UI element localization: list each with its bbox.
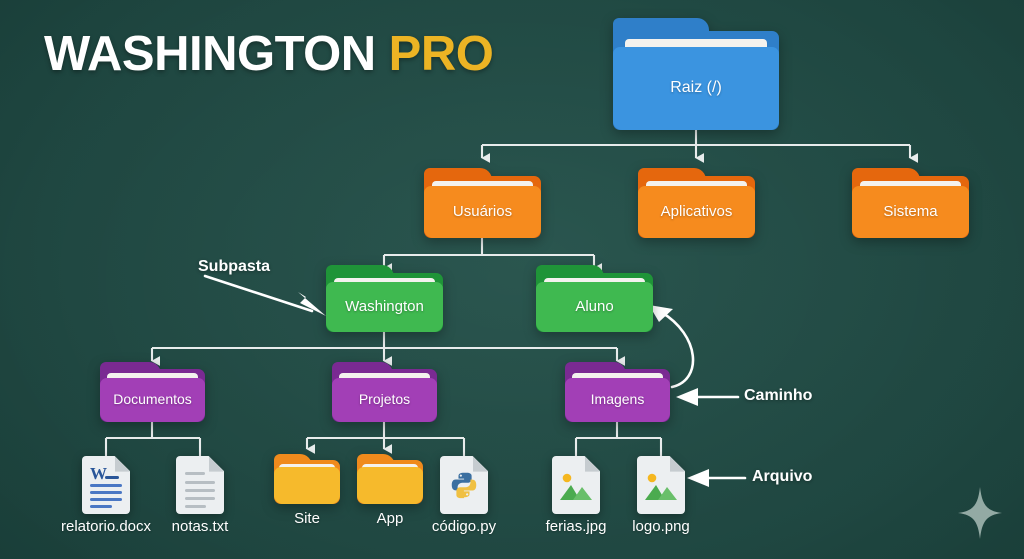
file-label: relatorio.docx (61, 518, 151, 535)
annotation-arquivo: Arquivo (752, 468, 812, 486)
image-file-icon (637, 456, 685, 514)
subpasta-arrow-head (298, 292, 326, 316)
image-file-icon (552, 456, 600, 514)
folder-label: Sistema (852, 186, 969, 238)
arquivo-arrow-head (687, 469, 709, 487)
file-label: notas.txt (172, 518, 229, 535)
file-label: código.py (432, 518, 496, 535)
title-primary: WASHINGTON (44, 27, 376, 81)
folder-node-projetos[interactable]: Projetos (332, 362, 437, 422)
annotation-caminho: Caminho (744, 387, 812, 405)
folder-label: App (377, 510, 404, 527)
folder-label: Projetos (332, 378, 437, 422)
file-label: ferias.jpg (546, 518, 607, 535)
title-accent: PRO (389, 27, 494, 81)
folder-node-sistema[interactable]: Sistema (852, 168, 969, 238)
folder-label: Imagens (565, 378, 670, 422)
diagram-canvas: WASHINGTONPRO (0, 0, 1024, 559)
folder-label: Usuários (424, 186, 541, 238)
folder-icon: Raiz (/) (613, 18, 779, 130)
sparkle-icon (958, 487, 1002, 539)
file-node-codigo-py[interactable]: código.py (440, 456, 488, 514)
file-node-logo-png[interactable]: logo.png (637, 456, 685, 514)
folder-label: Washington (326, 282, 443, 332)
folder-icon: Aluno (536, 265, 653, 332)
folder-label: Site (294, 510, 320, 527)
word-document-icon: W (82, 456, 130, 514)
file-node-ferias-jpg[interactable]: ferias.jpg (552, 456, 600, 514)
folder-node-imagens[interactable]: Imagens (565, 362, 670, 422)
folder-icon: Aplicativos (638, 168, 755, 238)
folder-node-aplicativos[interactable]: Aplicativos (638, 168, 755, 238)
folder-icon: Sistema (852, 168, 969, 238)
folder-node-washington[interactable]: Washington (326, 265, 443, 332)
folder-node-site[interactable]: Site (274, 454, 340, 504)
annotation-subpasta: Subpasta (198, 258, 270, 276)
folder-node-usuarios[interactable]: Usuários (424, 168, 541, 238)
python-file-icon (440, 456, 488, 514)
page-title: WASHINGTONPRO (44, 30, 493, 79)
folder-icon (357, 454, 423, 504)
folder-node-app[interactable]: App (357, 454, 423, 504)
folder-node-aluno[interactable]: Aluno (536, 265, 653, 332)
tree-connectors (0, 0, 1024, 559)
folder-label: Documentos (100, 378, 205, 422)
folder-icon: Documentos (100, 362, 205, 422)
text-document-icon (176, 456, 224, 514)
caminho-arrow-head (676, 388, 698, 406)
folder-node-root[interactable]: Raiz (/) (613, 18, 779, 130)
folder-label: Raiz (/) (613, 47, 779, 130)
file-node-relatorio-docx[interactable]: W relatorio.docx (82, 456, 130, 514)
folder-node-documentos[interactable]: Documentos (100, 362, 205, 422)
file-label: logo.png (632, 518, 690, 535)
folder-icon: Usuários (424, 168, 541, 238)
folder-icon: Imagens (565, 362, 670, 422)
folder-icon: Washington (326, 265, 443, 332)
folder-label: Aluno (536, 282, 653, 332)
file-node-notas-txt[interactable]: notas.txt (176, 456, 224, 514)
subpasta-arrow-line (205, 276, 312, 311)
folder-icon (274, 454, 340, 504)
folder-label: Aplicativos (638, 186, 755, 238)
folder-icon: Projetos (332, 362, 437, 422)
